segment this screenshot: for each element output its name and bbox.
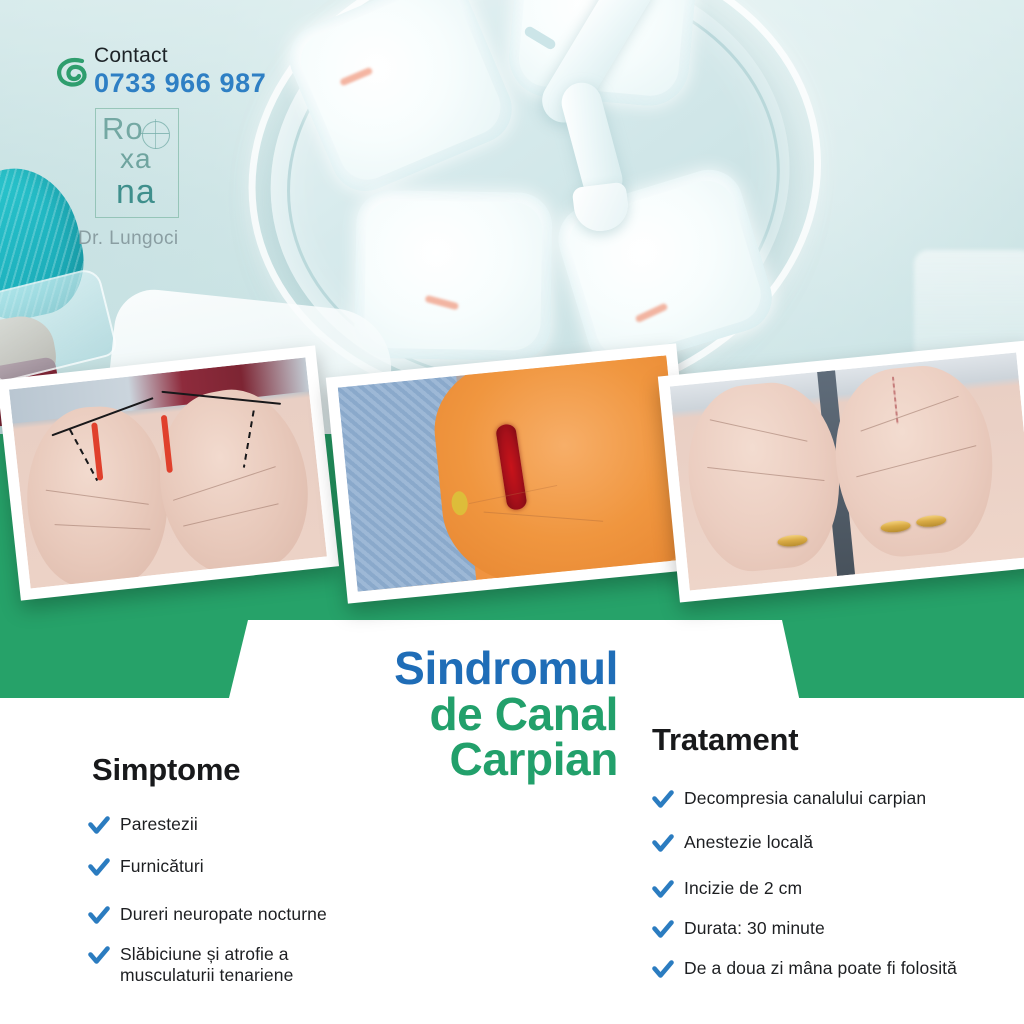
swirl-logo-icon (52, 52, 96, 96)
title-line-1: Sindromul (198, 646, 618, 692)
treatment-label: Durata: 30 minute (684, 918, 825, 939)
symptom-label: Furnicături (120, 856, 204, 877)
contact-label: Contact (94, 44, 168, 68)
check-icon (652, 879, 674, 901)
check-icon (88, 905, 110, 927)
infographic-page: Contact 0733 966 987 Ro xa na Dr. Lungoc… (0, 0, 1024, 1024)
check-icon (652, 959, 674, 981)
logo-line-3: na (116, 173, 156, 212)
treatment-item: Incizie de 2 cm (652, 878, 1024, 901)
doctor-name: Dr. Lungoci (78, 228, 179, 250)
title-line-2: de Canal (198, 692, 618, 738)
treatment-item: De a doua zi mâna poate fi folosită (652, 958, 1002, 981)
gallery-photo-3 (658, 340, 1024, 602)
symptom-item: Parestezii (88, 814, 398, 837)
treatment-item: Decompresia canalului carpian (652, 788, 1024, 811)
logo-line-2: xa (120, 143, 152, 175)
symptom-label: Parestezii (120, 814, 198, 835)
logo-line-1: Ro (102, 111, 144, 147)
treatment-label: De a doua zi mâna poate fi folosită (684, 958, 957, 979)
gallery-photo-2 (326, 343, 698, 603)
gallery-photo-1 (0, 345, 339, 600)
symptom-label: Dureri neuropate nocturne (120, 904, 327, 925)
treatment-label: Decompresia canalului carpian (684, 788, 926, 809)
check-icon (88, 945, 110, 967)
title-line-3: Carpian (198, 737, 618, 783)
treatment-label: Anestezie locală (684, 832, 813, 853)
treatment-item: Durata: 30 minute (652, 918, 1024, 941)
symptoms-heading: Simptome (92, 752, 240, 788)
treatment-label: Incizie de 2 cm (684, 878, 802, 899)
symptom-item: Slăbiciune și atrofie a musculaturii ten… (88, 944, 388, 987)
check-icon (88, 815, 110, 837)
check-icon (652, 789, 674, 811)
symptom-item: Furnicături (88, 856, 398, 879)
symptom-item: Dureri neuropate nocturne (88, 904, 418, 927)
treatment-heading: Tratament (652, 722, 798, 758)
contact-phone[interactable]: 0733 966 987 (94, 68, 266, 99)
check-icon (88, 857, 110, 879)
brand-logo-box: Ro xa na (95, 108, 179, 218)
check-icon (652, 919, 674, 941)
page-title: Sindromul de Canal Carpian (198, 646, 618, 783)
symptom-label: Slăbiciune și atrofie a musculaturii ten… (120, 944, 388, 987)
treatment-item: Anestezie locală (652, 832, 1024, 855)
check-icon (652, 833, 674, 855)
